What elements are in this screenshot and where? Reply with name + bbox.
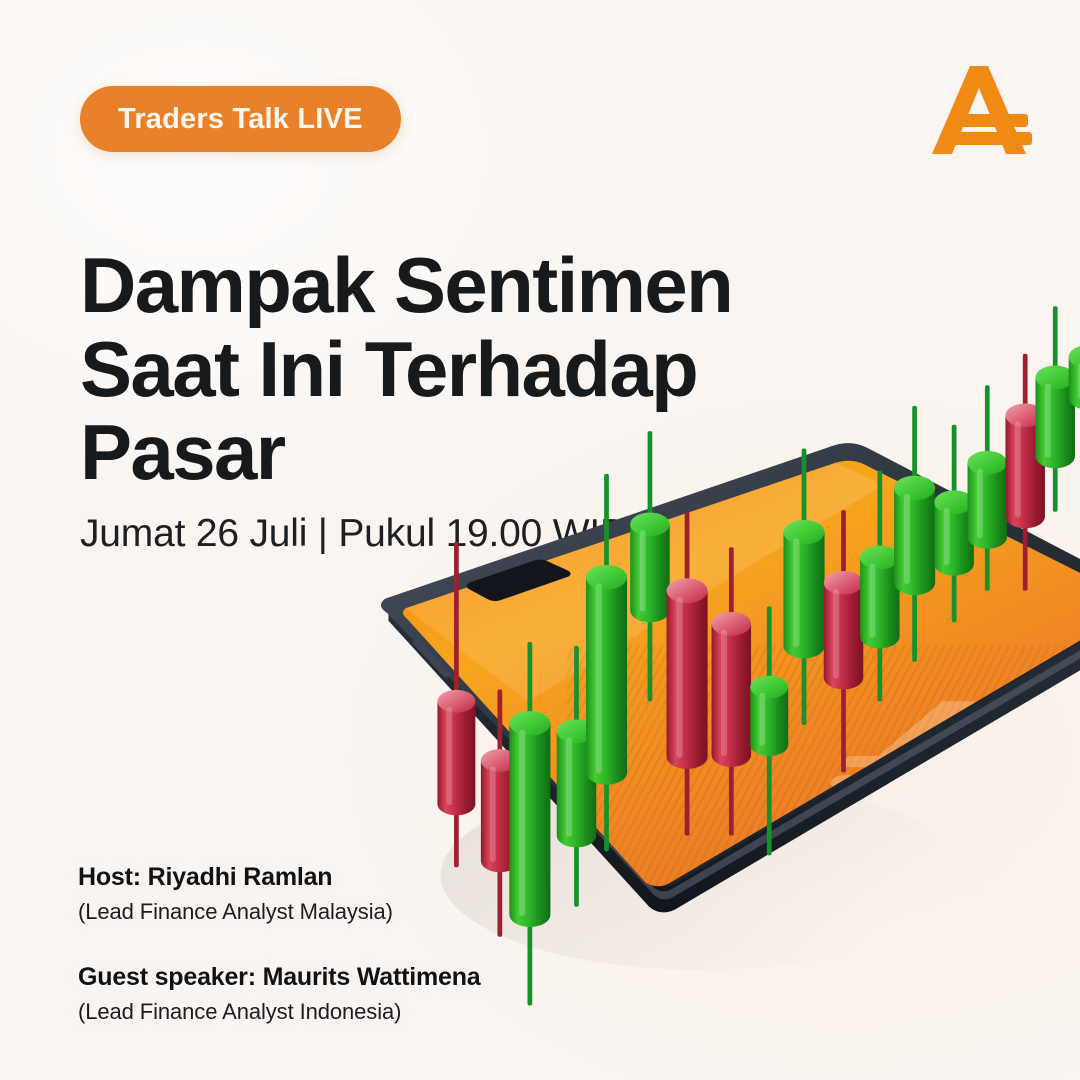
live-badge[interactable]: Traders Talk LIVE — [80, 86, 401, 152]
credit-host-name: Host: Riyadhi Ramlan — [78, 862, 598, 893]
credit-guest-role: (Lead Finance Analyst Indonesia) — [78, 998, 598, 1026]
poster-canvas: Traders Talk LIVE Dampak Sentimen Saat I… — [0, 0, 1080, 1080]
live-badge-label: Traders Talk LIVE — [118, 103, 363, 136]
credit-host-role: (Lead Finance Analyst Malaysia) — [78, 898, 598, 926]
credit-host: Host: Riyadhi Ramlan (Lead Finance Analy… — [78, 862, 598, 926]
credits-list: Host: Riyadhi Ramlan (Lead Finance Analy… — [78, 862, 598, 1026]
credit-guest: Guest speaker: Maurits Wattimena (Lead F… — [78, 962, 598, 1026]
credit-guest-name: Guest speaker: Maurits Wattimena — [78, 962, 598, 993]
brand-logo-icon — [926, 58, 1038, 166]
